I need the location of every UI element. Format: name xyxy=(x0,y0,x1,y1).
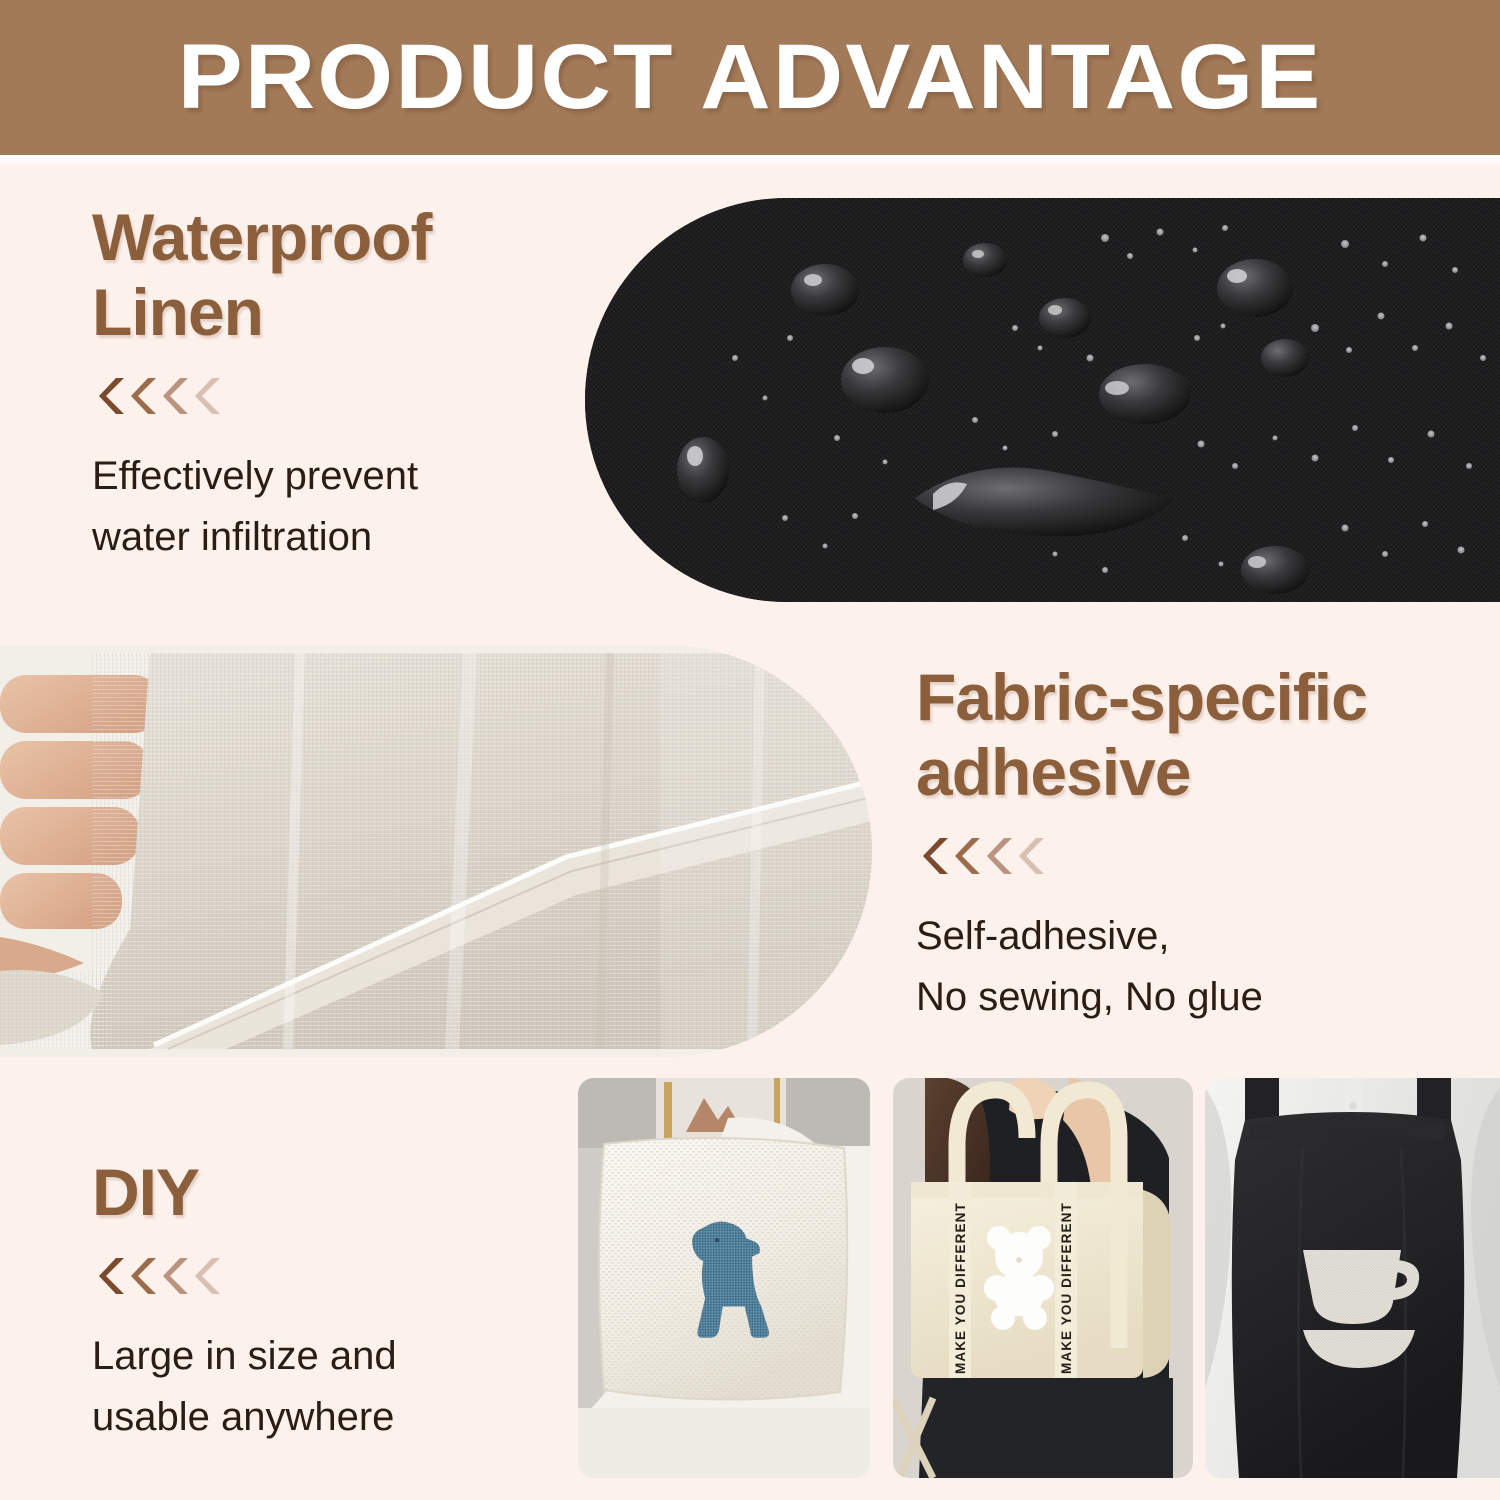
section-diy-subtext: Large in size and usable anywhere xyxy=(92,1326,552,1448)
tote-bag-illustration: MAKE YOU DIFFERENT MAKE YOU DIFFERENT xyxy=(893,1078,1193,1478)
pillow-illustration xyxy=(578,1078,870,1478)
chevron-left-icon xyxy=(922,836,952,876)
header-banner: PRODUCT ADVANTAGE xyxy=(0,0,1500,155)
chevron-left-icon xyxy=(162,376,192,416)
apron-illustration xyxy=(1205,1078,1500,1478)
chevron-left-icon xyxy=(130,1256,160,1296)
pillow-with-dog-patch-photo xyxy=(578,1078,870,1478)
chevron-left-icon xyxy=(98,376,128,416)
chevron-group-adhesive xyxy=(922,836,1476,876)
section-adhesive: Fabric-specific adhesive Self-adhesive, … xyxy=(916,660,1476,1028)
chevron-left-icon xyxy=(98,1256,128,1296)
linen-fabric-illustration xyxy=(0,645,872,1057)
tote-strap-text-right: MAKE YOU DIFFERENT xyxy=(1059,1202,1074,1374)
section-diy-heading: DIY xyxy=(92,1155,552,1230)
chevron-left-icon xyxy=(194,1256,224,1296)
linen-fabric-in-hand-photo xyxy=(0,645,872,1057)
tote-strap-text-left: MAKE YOU DIFFERENT xyxy=(953,1202,968,1374)
section-waterproof-subtext: Effectively prevent water infiltration xyxy=(92,446,562,568)
bear-silhouette-patch xyxy=(984,1226,1054,1330)
chevron-left-icon xyxy=(1018,836,1048,876)
water-droplet-fabric-illustration xyxy=(585,198,1500,602)
section-waterproof-heading: Waterproof Linen xyxy=(92,200,562,350)
section-adhesive-subtext: Self-adhesive, No sewing, No glue xyxy=(916,906,1476,1028)
waterproof-fabric-water-droplets-photo xyxy=(585,198,1500,602)
section-waterproof: Waterproof Linen Effectively prevent wat… xyxy=(92,200,562,568)
tote-bag-with-bear-patch-photo: MAKE YOU DIFFERENT MAKE YOU DIFFERENT xyxy=(893,1078,1193,1478)
chevron-left-icon xyxy=(954,836,984,876)
chevron-group-waterproof xyxy=(98,376,562,416)
section-adhesive-heading: Fabric-specific adhesive xyxy=(916,660,1476,810)
header-gradient-divider xyxy=(0,155,1500,169)
chevron-left-icon xyxy=(162,1256,192,1296)
page-title: PRODUCT ADVANTAGE xyxy=(178,25,1323,130)
chevron-left-icon xyxy=(986,836,1016,876)
chevron-left-icon xyxy=(194,376,224,416)
apron-with-teacup-patch-photo xyxy=(1205,1078,1500,1478)
chevron-left-icon xyxy=(130,376,160,416)
chevron-group-diy xyxy=(98,1256,552,1296)
product-advantage-infographic: PRODUCT ADVANTAGE Waterproof Linen Effec… xyxy=(0,0,1500,1500)
section-diy: DIY Large in size and usable anywhere xyxy=(92,1155,552,1448)
